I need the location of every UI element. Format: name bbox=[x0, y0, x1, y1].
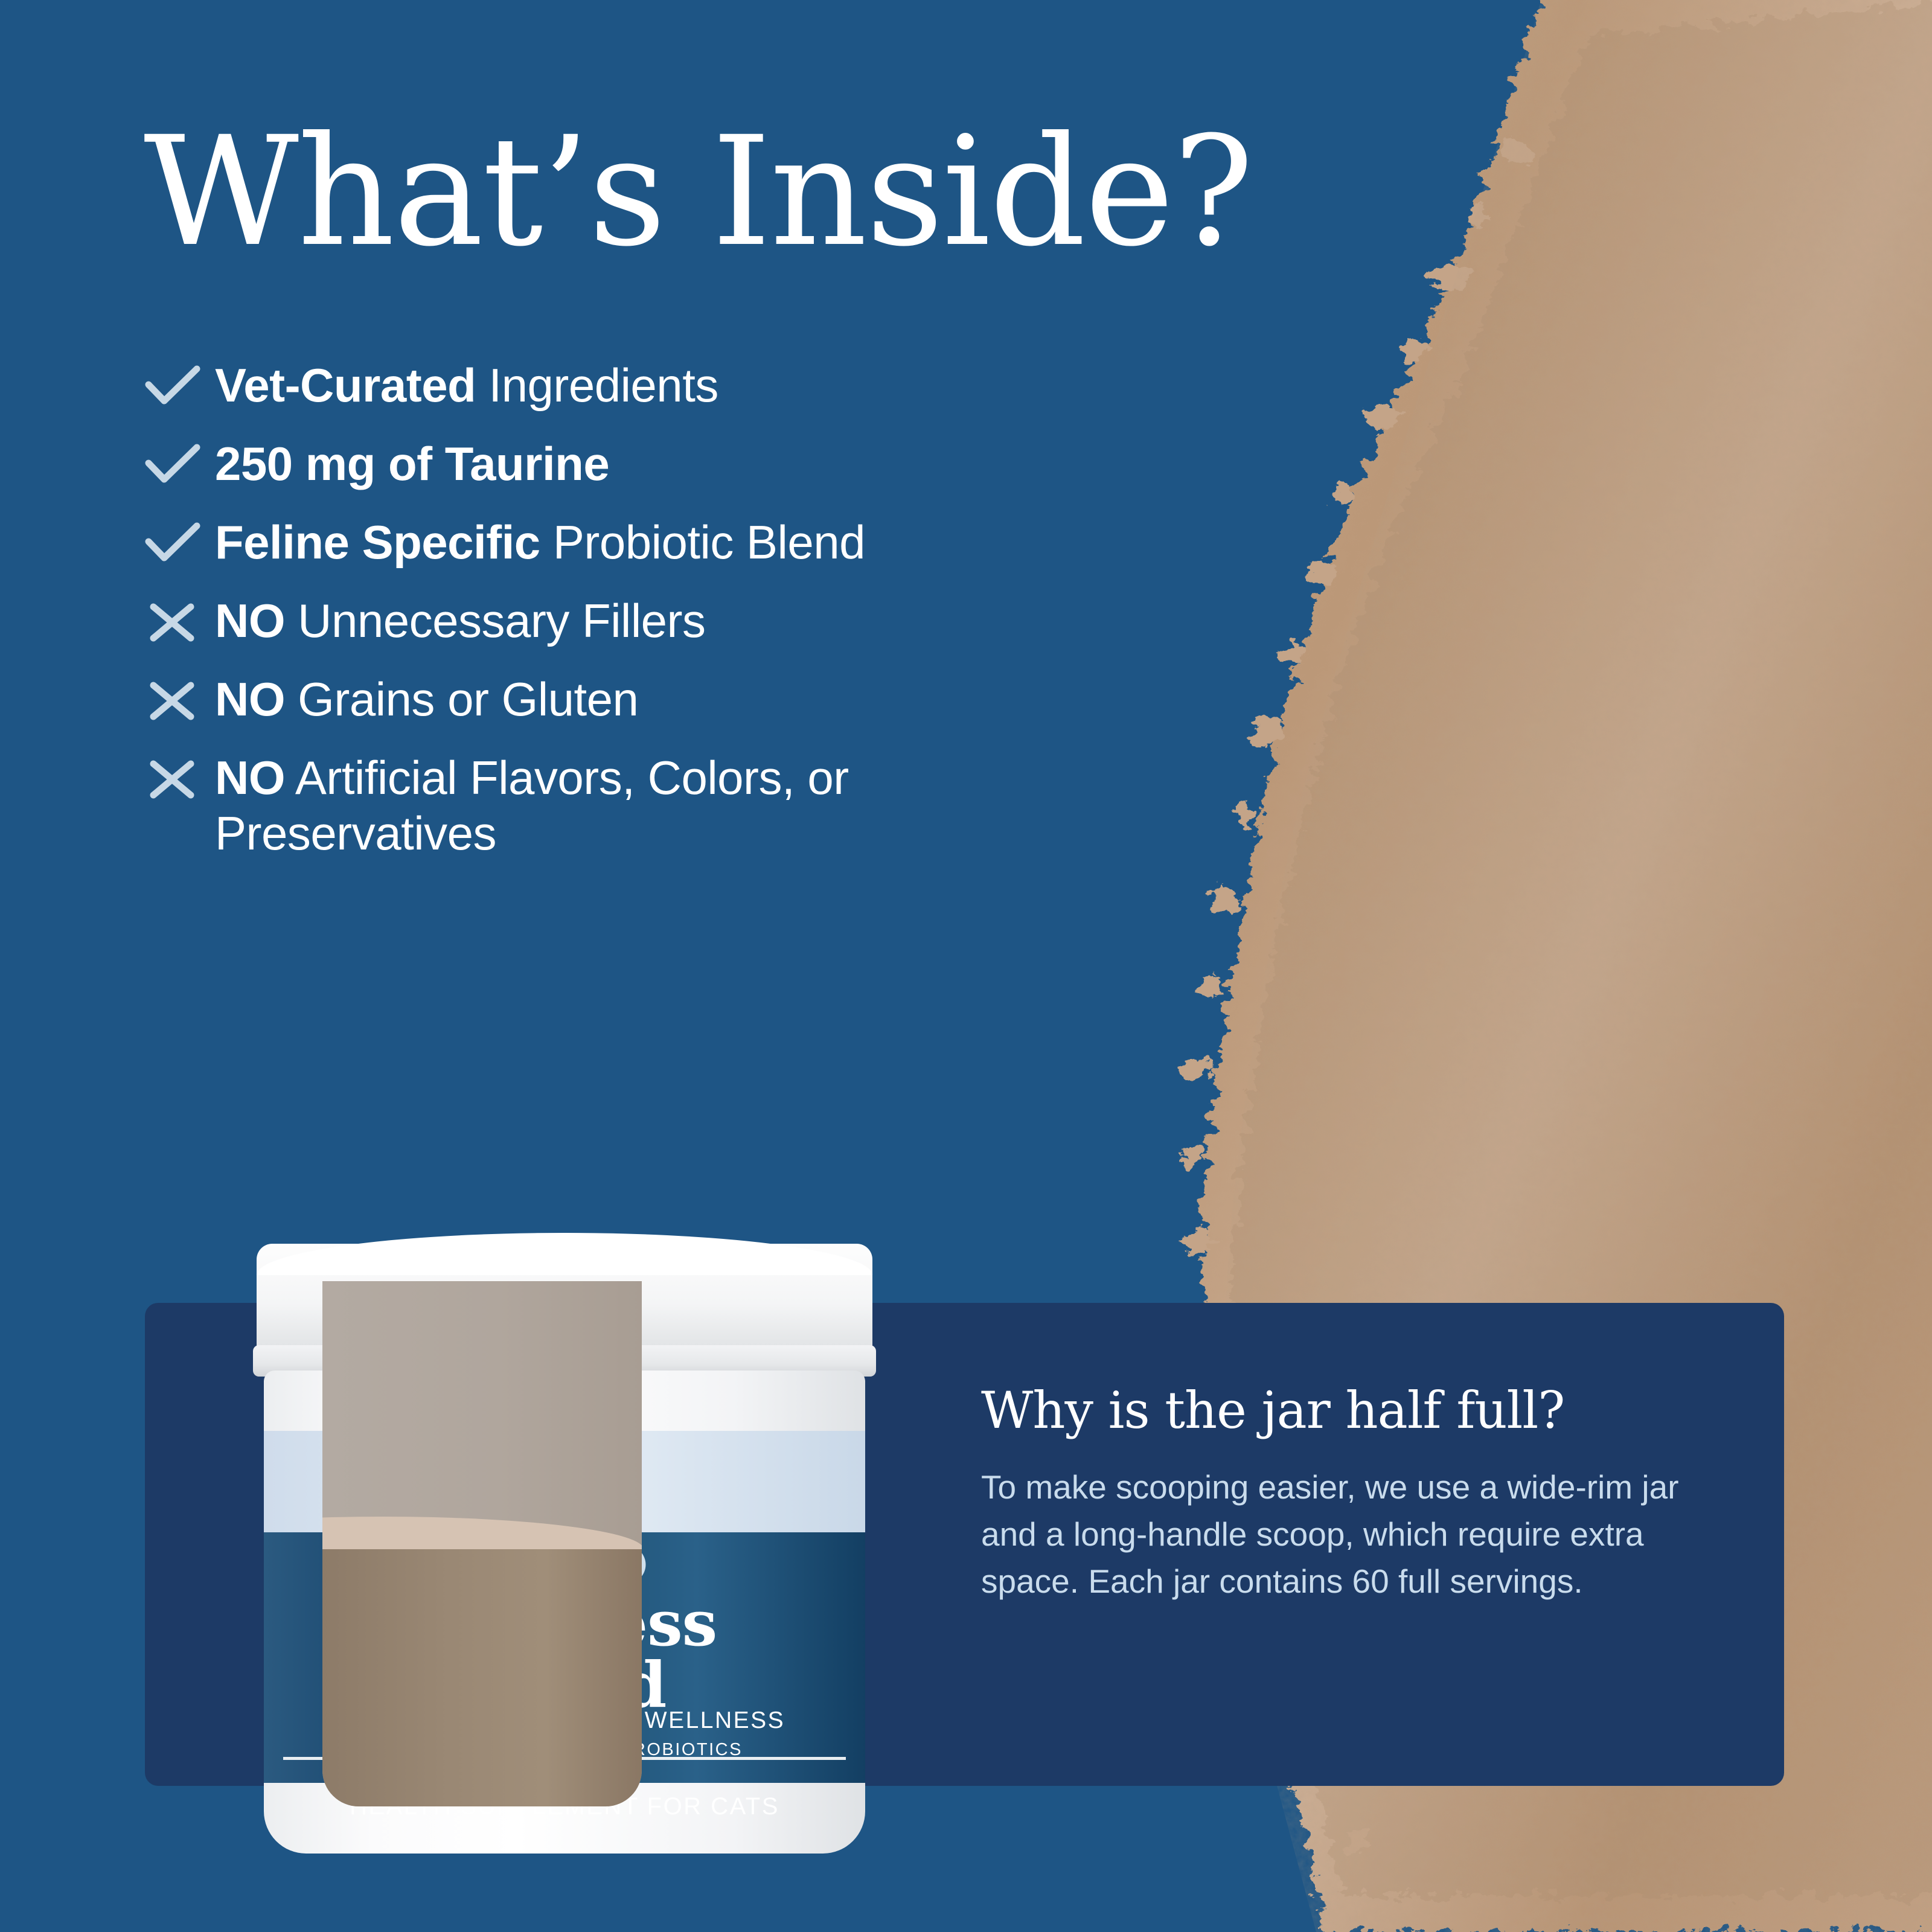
feature-strong: NO bbox=[215, 594, 285, 647]
info-card-text: Why is the jar half full? To make scoopi… bbox=[981, 1384, 1712, 1605]
info-card-title: Why is the jar half full? bbox=[981, 1384, 1712, 1437]
cross-icon bbox=[144, 749, 215, 807]
feature-strong: NO bbox=[215, 673, 285, 726]
feature-strong: NO bbox=[215, 751, 285, 804]
check-icon bbox=[144, 513, 215, 571]
feature-text: Vet-Curated Ingredients bbox=[215, 356, 718, 413]
list-item: NO Artificial Flavors, Colors, or Preser… bbox=[144, 749, 1243, 861]
list-item: Vet-Curated Ingredients bbox=[144, 356, 1243, 414]
info-card-body: To make scooping easier, we use a wide-r… bbox=[981, 1463, 1712, 1605]
feature-rest: Ingredients bbox=[476, 359, 718, 412]
feature-text: NO Unnecessary Fillers bbox=[215, 592, 706, 648]
jar-lid-top bbox=[257, 1233, 872, 1275]
feature-rest: Unnecessary Fillers bbox=[285, 594, 706, 647]
feature-text: NO Grains or Gluten bbox=[215, 670, 638, 727]
feature-rest: Probiotic Blend bbox=[540, 516, 865, 569]
powder-volume bbox=[322, 1549, 642, 1806]
jar-cutaway-fill bbox=[322, 1281, 642, 1806]
feature-rest: Grains or Gluten bbox=[285, 673, 638, 726]
feature-rest: Artificial Flavors, Colors, or Preservat… bbox=[215, 751, 849, 860]
feature-text: 250 mg of Taurine bbox=[215, 435, 609, 491]
list-item: NO Unnecessary Fillers bbox=[144, 592, 1243, 650]
list-item: 250 mg of Taurine bbox=[144, 435, 1243, 493]
marketing-image: What’s Inside? Vet-Curated Ingredients 2… bbox=[0, 0, 1932, 1932]
cross-icon bbox=[144, 592, 215, 650]
feature-strong: 250 mg of Taurine bbox=[215, 437, 609, 490]
check-icon bbox=[144, 356, 215, 414]
check-icon bbox=[144, 435, 215, 493]
list-item: NO Grains or Gluten bbox=[144, 670, 1243, 728]
page-title: What’s Inside? bbox=[144, 115, 1253, 269]
feature-strong: Vet-Curated bbox=[215, 359, 476, 412]
cross-icon bbox=[144, 670, 215, 728]
list-item: Feline Specific Probiotic Blend bbox=[144, 513, 1243, 571]
feature-text: Feline Specific Probiotic Blend bbox=[215, 513, 865, 570]
feature-list: Vet-Curated Ingredients 250 mg of Taurin… bbox=[144, 356, 1243, 881]
feature-text: NO Artificial Flavors, Colors, or Preser… bbox=[215, 749, 939, 861]
feature-strong: Feline Specific bbox=[215, 516, 540, 569]
